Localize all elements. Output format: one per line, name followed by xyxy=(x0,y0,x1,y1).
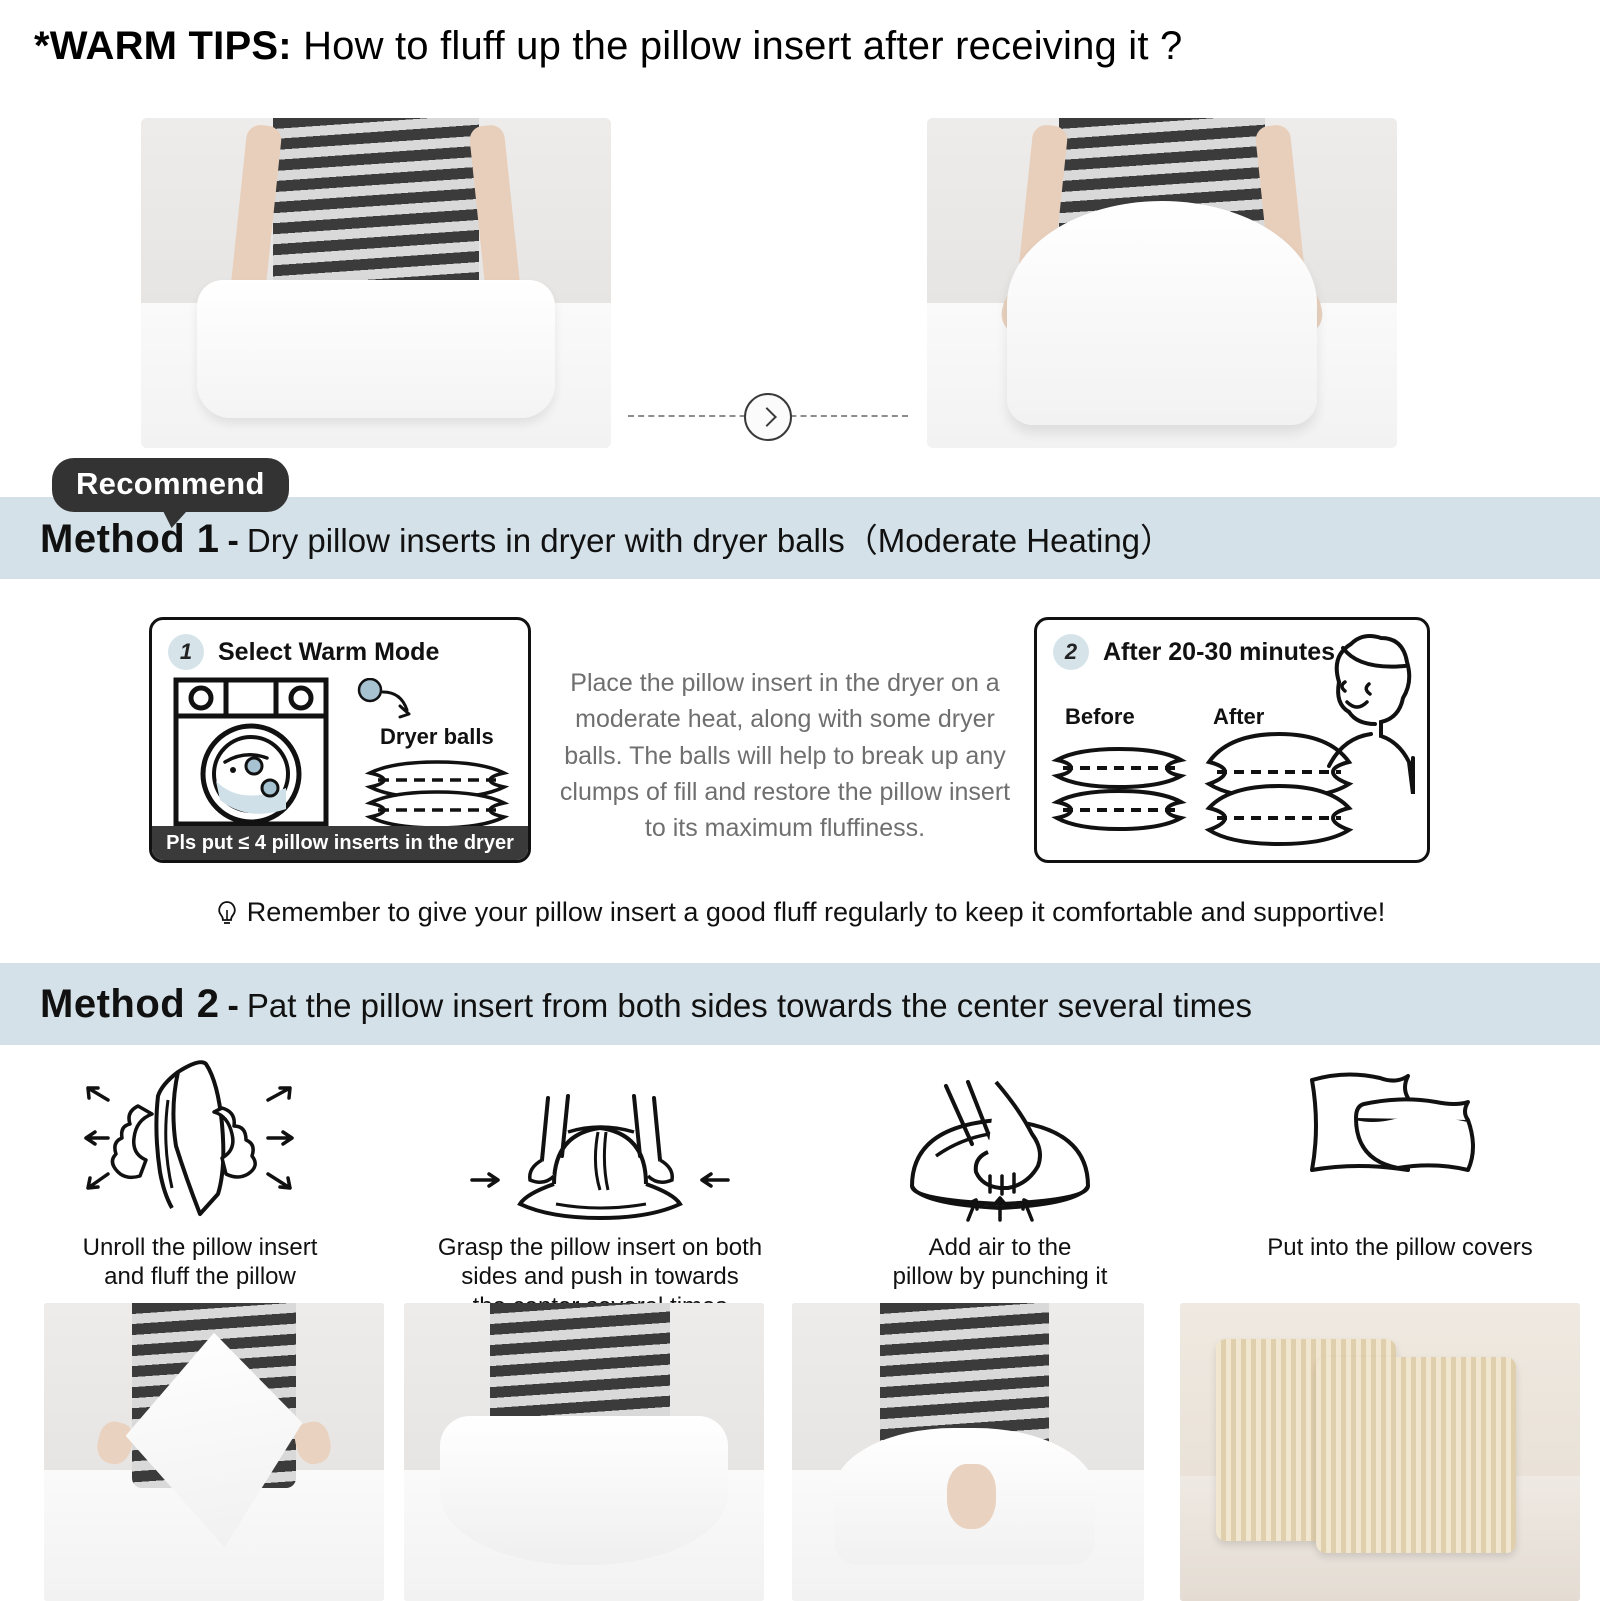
caption-line: sides and push in towards xyxy=(416,1262,784,1291)
cover-photo-scene xyxy=(1180,1303,1580,1601)
step-1-card: 1 Select Warm Mode Dryer balls xyxy=(149,617,531,863)
before-pillows-icon xyxy=(1049,744,1189,848)
photo-scene xyxy=(44,1303,384,1601)
method-1-label: Method 1 xyxy=(40,517,220,562)
after-label: After xyxy=(1213,704,1264,730)
hands-shaking-pillow-glyph xyxy=(50,1048,350,1223)
page-title-strong: *WARM TIPS: xyxy=(34,24,292,68)
method-2-step-3: Add air to the pillow by punching it xyxy=(800,1045,1200,1292)
method-2-label: Method 2 xyxy=(40,982,220,1027)
pillow-pushed-glyph xyxy=(450,1048,750,1223)
punching-hand xyxy=(947,1464,996,1530)
caption-line: Grasp the pillow insert on both xyxy=(416,1233,784,1262)
chevron-right-glyph xyxy=(757,407,777,427)
before-after-arrow xyxy=(628,393,908,439)
method-1-dash: - xyxy=(220,522,247,561)
flat-pillow-insert xyxy=(197,280,554,419)
dryer-ball-arrow-icon xyxy=(357,678,427,724)
page-title: *WARM TIPS: How to fluff up the pillow i… xyxy=(34,24,1182,69)
method-2-text: Pat the pillow insert from both sides to… xyxy=(247,987,1252,1025)
photo-fluffed-pillow xyxy=(927,118,1397,448)
method-1-content: 1 Select Warm Mode Dryer balls xyxy=(0,579,1600,963)
fluffed-pillow-insert xyxy=(1007,201,1317,425)
lightbulb-icon xyxy=(215,900,239,926)
pillow-pushed-from-sides-icon xyxy=(400,1045,800,1225)
stacked-pillow-outline-icon xyxy=(362,758,512,828)
squeezed-pillow-insert xyxy=(440,1416,728,1565)
step-2-card: 2 After 20-30 minutes Before After xyxy=(1034,617,1430,863)
method-2-content: Unroll the pillow insert and fluff the p… xyxy=(0,1045,1600,1601)
hands-shaking-pillow-icon xyxy=(0,1045,400,1225)
hand-punching-pillow-icon xyxy=(800,1045,1200,1225)
photo-step-1 xyxy=(44,1303,384,1601)
dryer-balls-label: Dryer balls xyxy=(380,724,494,750)
top-photo-row xyxy=(0,118,1600,448)
photo-scene xyxy=(927,118,1397,448)
step-1-footer-note: Pls put ≤ 4 pillow inserts in the dryer xyxy=(152,826,528,860)
step-2-number-badge: 2 xyxy=(1053,634,1089,670)
step-1-number-badge: 1 xyxy=(168,634,204,670)
method-2-banner: Method 2 - Pat the pillow insert from bo… xyxy=(0,963,1600,1045)
caption-line: Put into the pillow covers xyxy=(1216,1233,1584,1262)
person-illustration xyxy=(1309,626,1427,794)
photo-step-2 xyxy=(404,1303,764,1601)
hand-punching-glyph xyxy=(850,1048,1150,1223)
dryer-icon xyxy=(170,676,360,826)
method-2-step-4: Put into the pillow covers xyxy=(1200,1045,1600,1262)
method-2-dash: - xyxy=(220,987,247,1026)
reminder-line: Remember to give your pillow insert a go… xyxy=(0,897,1600,928)
caption-line: pillow by punching it xyxy=(816,1262,1184,1291)
recommend-badge: Recommend xyxy=(52,458,289,512)
photo-step-3 xyxy=(792,1303,1144,1601)
method-2-step-1: Unroll the pillow insert and fluff the p… xyxy=(0,1045,400,1292)
method-1-paragraph: Place the pillow insert in the dryer on … xyxy=(555,665,1015,846)
method-2-step-3-caption: Add air to the pillow by punching it xyxy=(800,1233,1200,1292)
method-2-step-2: Grasp the pillow insert on both sides an… xyxy=(400,1045,800,1321)
caption-line: Unroll the pillow insert xyxy=(16,1233,384,1262)
reminder-text: Remember to give your pillow insert a go… xyxy=(247,897,1386,928)
step-2-title: After 20-30 minutes xyxy=(1103,638,1335,667)
step-1-title: Select Warm Mode xyxy=(218,638,439,667)
method-2-step-1-caption: Unroll the pillow insert and fluff the p… xyxy=(0,1233,400,1292)
photo-scene xyxy=(141,118,611,448)
cushion-cover-front xyxy=(1316,1357,1516,1554)
caption-line: Add air to the xyxy=(816,1233,1184,1262)
method-2-step-4-caption: Put into the pillow covers xyxy=(1200,1233,1600,1262)
method-1-text: Dry pillow inserts in dryer with dryer b… xyxy=(247,514,1173,562)
two-pillows-icon xyxy=(1200,1045,1600,1225)
two-pillows-glyph xyxy=(1250,1048,1550,1223)
page-title-rest: How to fluff up the pillow insert after … xyxy=(292,24,1183,68)
caption-line: and fluff the pillow xyxy=(16,1262,384,1291)
photo-step-4 xyxy=(1180,1303,1580,1601)
photo-flat-pillow xyxy=(141,118,611,448)
before-label: Before xyxy=(1065,704,1135,730)
photo-scene xyxy=(404,1303,764,1601)
photo-scene xyxy=(792,1303,1144,1601)
circled-chevron-right-icon xyxy=(744,393,792,441)
